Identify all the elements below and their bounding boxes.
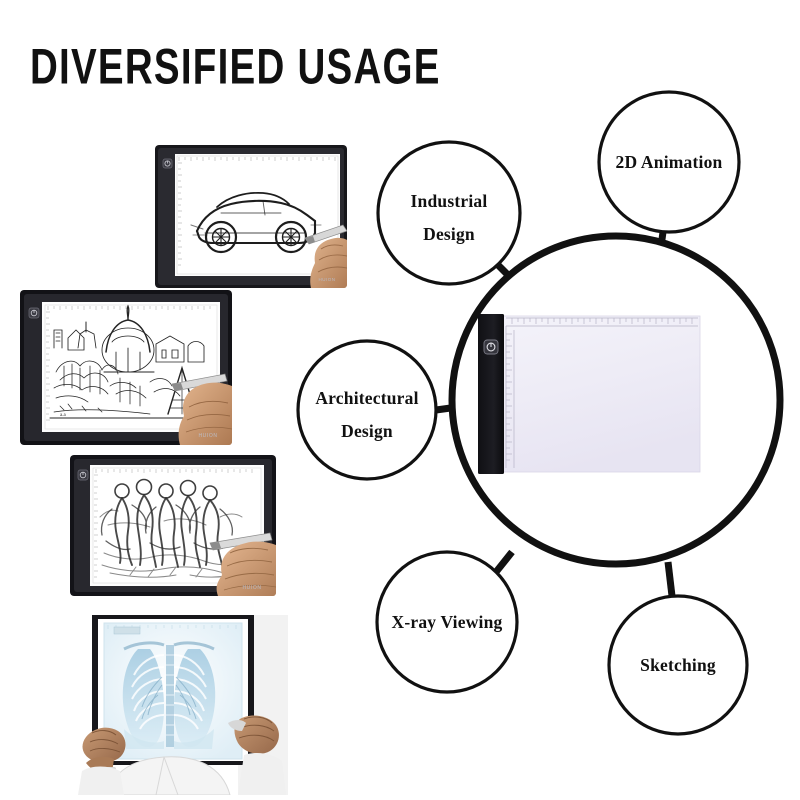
bubble-label-2d-animation: 2D Animation xyxy=(616,152,723,172)
usage-diagram: Industrial Design 2D Animation Architect… xyxy=(0,0,800,800)
bubble-label-sketching: Sketching xyxy=(640,655,716,675)
infographic-canvas: DIVERSIFIED USAGE xyxy=(0,0,800,800)
bubble-x-ray-viewing[interactable]: X-ray Viewing xyxy=(377,552,517,692)
bubble-label-architectural-design-line2: Design xyxy=(341,421,393,441)
bubble-2d-animation[interactable]: 2D Animation xyxy=(599,92,739,232)
bubble-label-architectural-design-line1: Architectural xyxy=(315,388,418,408)
power-icon[interactable] xyxy=(484,340,498,354)
led-light-pad xyxy=(478,314,700,474)
connector-sketching xyxy=(668,562,672,596)
bubble-label-x-ray-viewing: X-ray Viewing xyxy=(392,612,503,632)
bubble-label-industrial-design-line2: Design xyxy=(423,224,475,244)
bubble-sketching[interactable]: Sketching xyxy=(609,596,747,734)
bubble-label-industrial-design-line1: Industrial xyxy=(411,191,488,211)
bubble-architectural-design[interactable]: Architectural Design xyxy=(298,341,436,479)
bubble-industrial-design[interactable]: Industrial Design xyxy=(378,142,520,284)
